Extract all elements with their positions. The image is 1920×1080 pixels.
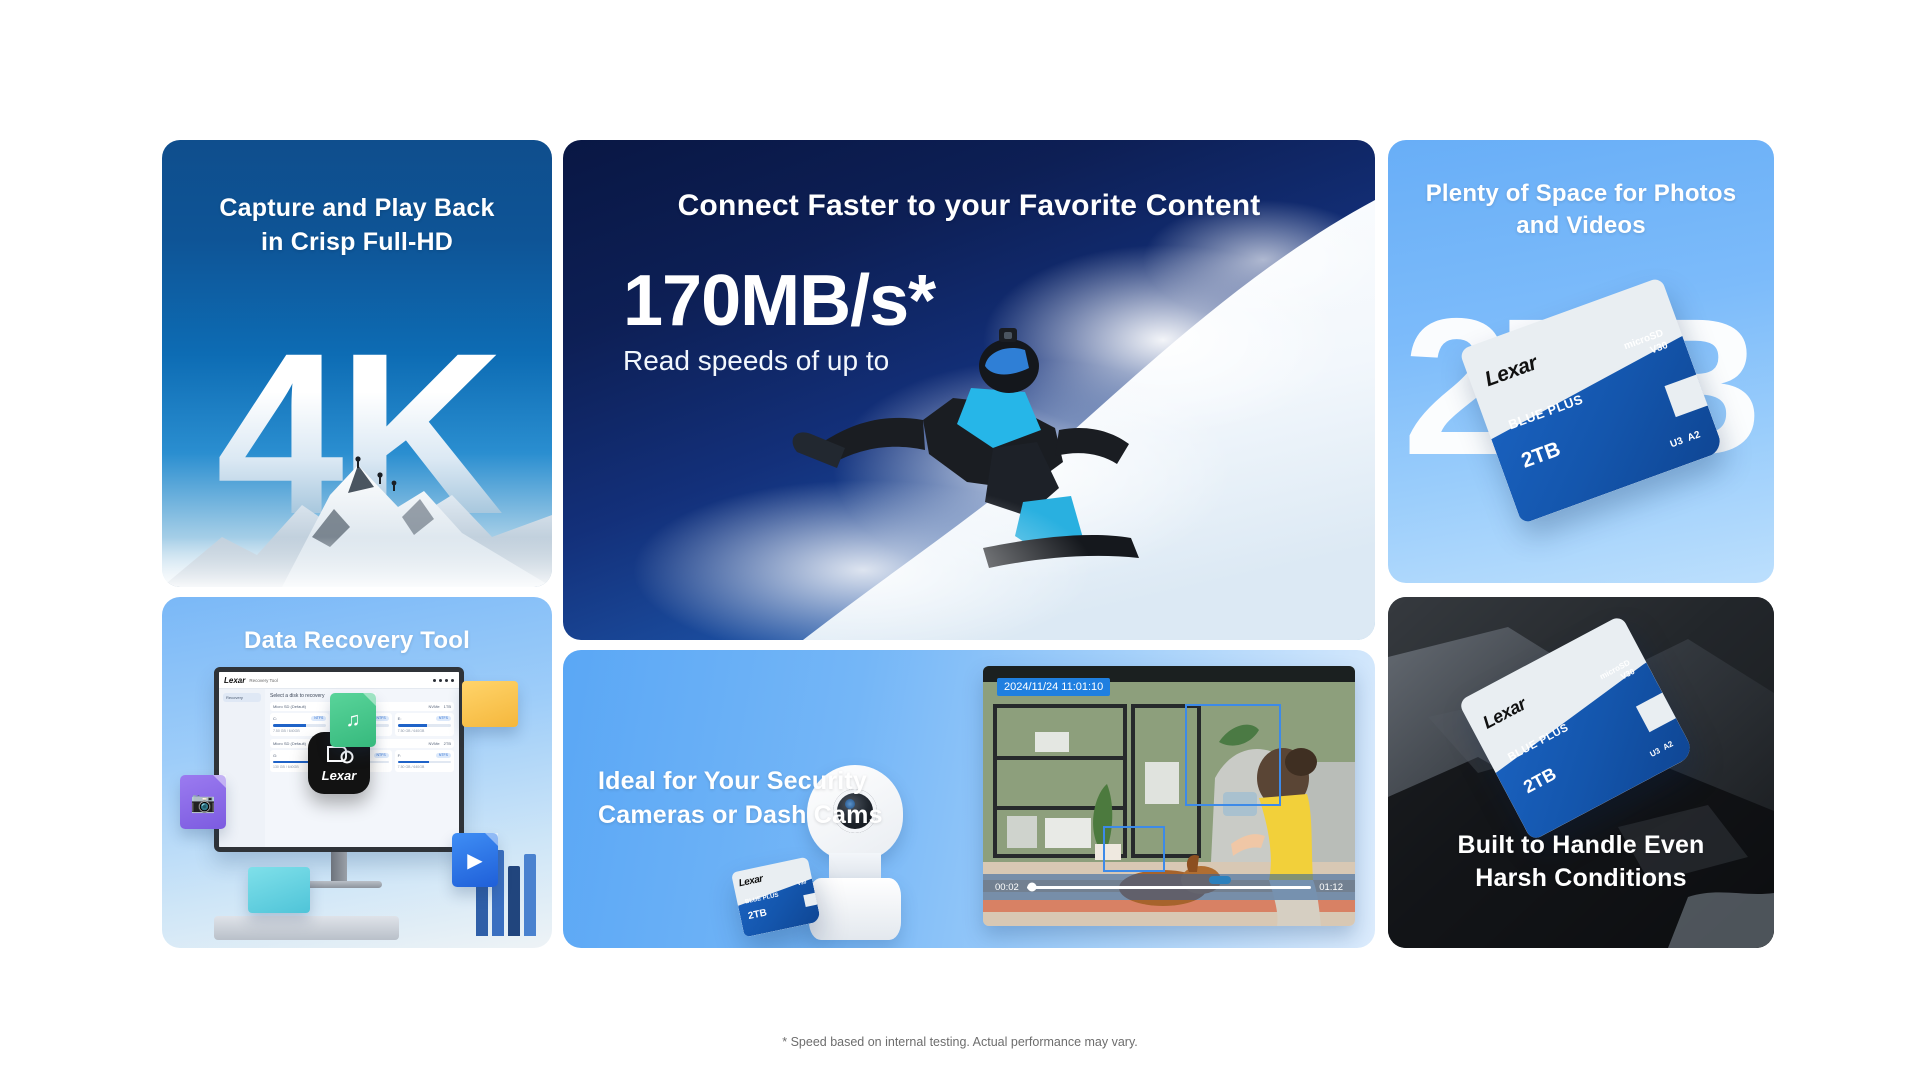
app-badge-label: Lexar (322, 768, 357, 783)
marketing-page: Capture and Play Back in Crisp Full-HD 4… (0, 0, 1920, 1080)
headline-line-1: Ideal for Your Security (598, 765, 928, 799)
mountain-illustration (162, 387, 552, 587)
video-current-time: 00:02 (995, 882, 1019, 893)
folder-teal-icon (248, 867, 310, 913)
harsh-conditions-card: Lexar BLUE PLUS 2TB microSD V30 U3 A2 Bu… (1388, 597, 1774, 948)
headline-line-1: Built to Handle Even (1388, 829, 1774, 863)
monitor-stand (331, 852, 347, 882)
disk-tile[interactable]: E: NTFS 7.50 GB / 640GB (395, 713, 454, 736)
pet-detection-box (1103, 826, 1165, 872)
window-controls[interactable] (433, 679, 454, 682)
disclaimer-footnote: * Speed based on internal testing. Actua… (0, 1035, 1920, 1049)
headline-line-2: and Videos (1388, 210, 1774, 242)
plenty-of-space-card: Plenty of Space for Photos and Videos 2T… (1388, 140, 1774, 583)
headline-line-2: Cameras or Dash Cams (598, 799, 928, 833)
video-progress-slider[interactable] (1027, 886, 1311, 889)
read-speed-subtitle: Read speeds of up to (623, 345, 889, 377)
card-headline: Connect Faster to your Favorite Content (563, 186, 1375, 227)
disk-tile[interactable]: F: NTFS 7.50 GB / 640GB (395, 750, 454, 773)
data-recovery-card: Data Recovery Tool ♫ 📷 ▶ Lexar Recovery … (162, 597, 552, 948)
card-headline: Capture and Play Back in Crisp Full-HD (162, 192, 552, 260)
sidebar-item-recovery[interactable]: Recovery (223, 693, 261, 702)
read-speed-value: 170MB/s* (593, 260, 1375, 342)
card-headline: Built to Handle Even Harsh Conditions (1388, 829, 1774, 897)
security-camera-card: Ideal for Your Security Cameras or Dash … (563, 650, 1375, 948)
face-detection-box (1185, 704, 1281, 806)
video-controls[interactable]: 00:02 01:12 (983, 874, 1355, 900)
card-headline: Data Recovery Tool (162, 625, 552, 657)
connect-faster-card: Connect Faster to your Favorite Content … (563, 140, 1375, 640)
keyboard-illustration (214, 916, 399, 940)
image-file-icon: 📷 (180, 775, 226, 829)
app-logo: Lexar (224, 676, 245, 685)
video-timestamp: 2024/11/24 11:01:10 (997, 678, 1110, 696)
app-product-name: Recovery Tool (249, 678, 277, 683)
video-feed-panel[interactable]: 2024/11/24 11:01:10 00:02 01:12 (983, 666, 1355, 926)
headline-line-2: Harsh Conditions (1388, 862, 1774, 896)
card-headline: Ideal for Your Security Cameras or Dash … (598, 765, 928, 833)
capture-playback-card: Capture and Play Back in Crisp Full-HD 4… (162, 140, 552, 587)
video-total-time: 01:12 (1319, 882, 1343, 893)
sd-brand-label: Lexar (738, 873, 764, 889)
headline-line-1: Capture and Play Back (162, 192, 552, 226)
headline-line-1: Plenty of Space for Photos (1388, 178, 1774, 210)
card-headline: Plenty of Space for Photos and Videos (1388, 178, 1774, 243)
folder-icon (462, 681, 518, 727)
video-file-icon: ▶ (452, 833, 498, 887)
headline-line-2: in Crisp Full-HD (162, 226, 552, 260)
sd-brand-label: Lexar (1482, 351, 1541, 392)
sd-brand-label: Lexar (1480, 694, 1530, 734)
microsd-card-image: Lexar BLUE PLUS 2TB V30 (731, 857, 821, 938)
music-file-icon: ♫ (330, 693, 376, 747)
video-progress-handle[interactable] (1028, 883, 1037, 892)
app-titlebar: Lexar Recovery Tool (219, 672, 459, 689)
